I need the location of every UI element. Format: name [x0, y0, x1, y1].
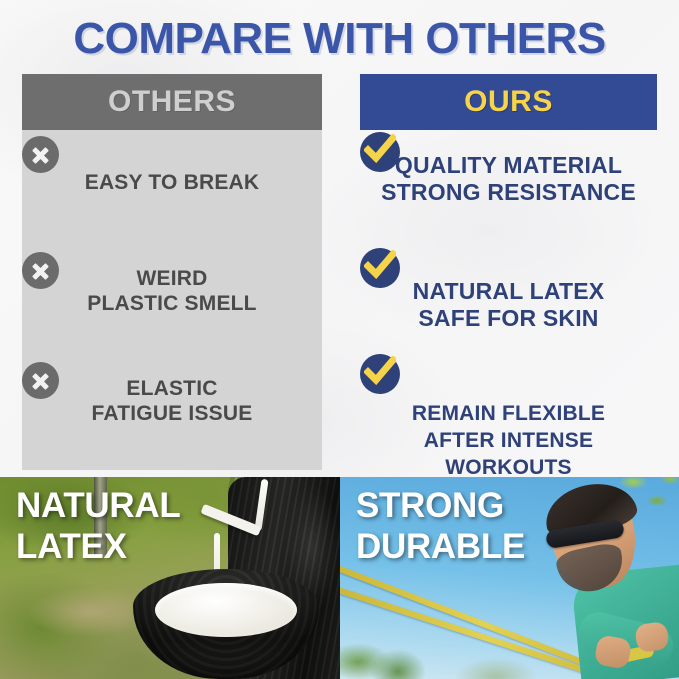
others-panel-body: EASY TO BREAK WEIRD PLASTIC SMELL ELASTI… — [22, 130, 322, 470]
check-mark-icon — [360, 354, 400, 394]
ours-panel-body: QUALITY MATERIAL STRONG RESISTANCE NATUR… — [360, 130, 657, 470]
others-item-2: WEIRD PLASTIC SMELL — [22, 252, 322, 348]
others-item-3-label: ELASTIC FATIGUE ISSUE — [22, 376, 322, 426]
ours-item-3: REMAIN FLEXIBLE AFTER INTENSE WORKOUTS — [360, 354, 657, 464]
ours-item-2-label: NATURAL LATEX SAFE FOR SKIN — [360, 278, 657, 332]
photo-strip: NATURAL LATEX STRONG DURABLE — [0, 477, 679, 679]
infographic-root: COMPARE WITH OTHERS OTHERS EASY TO BREAK… — [0, 0, 679, 679]
others-item-2-label: WEIRD PLASTIC SMELL — [22, 266, 322, 316]
ours-item-1: QUALITY MATERIAL STRONG RESISTANCE — [360, 132, 657, 236]
ours-item-1-label: QUALITY MATERIAL STRONG RESISTANCE — [360, 152, 657, 206]
others-column: OTHERS EASY TO BREAK WEIRD PLASTIC SMELL… — [22, 74, 322, 470]
others-item-3: ELASTIC FATIGUE ISSUE — [22, 362, 322, 458]
photo-natural-latex: NATURAL LATEX — [0, 477, 340, 679]
others-column-header: OTHERS — [22, 74, 322, 130]
ours-column-header: OURS — [360, 74, 657, 130]
ours-column: OURS QUALITY MATERIAL STRONG RESISTANCE — [360, 74, 657, 470]
photo-strong-durable: STRONG DURABLE — [340, 477, 679, 679]
others-item-1: EASY TO BREAK — [22, 136, 322, 232]
ours-item-2: NATURAL LATEX SAFE FOR SKIN — [360, 248, 657, 352]
photo-strong-durable-caption: STRONG DURABLE — [356, 485, 525, 567]
page-title: COMPARE WITH OTHERS — [0, 14, 679, 64]
x-mark-icon — [22, 136, 59, 173]
ours-item-3-label: REMAIN FLEXIBLE AFTER INTENSE WORKOUTS — [360, 400, 657, 481]
photo-natural-latex-caption: NATURAL LATEX — [16, 485, 180, 567]
others-item-1-label: EASY TO BREAK — [22, 170, 322, 195]
